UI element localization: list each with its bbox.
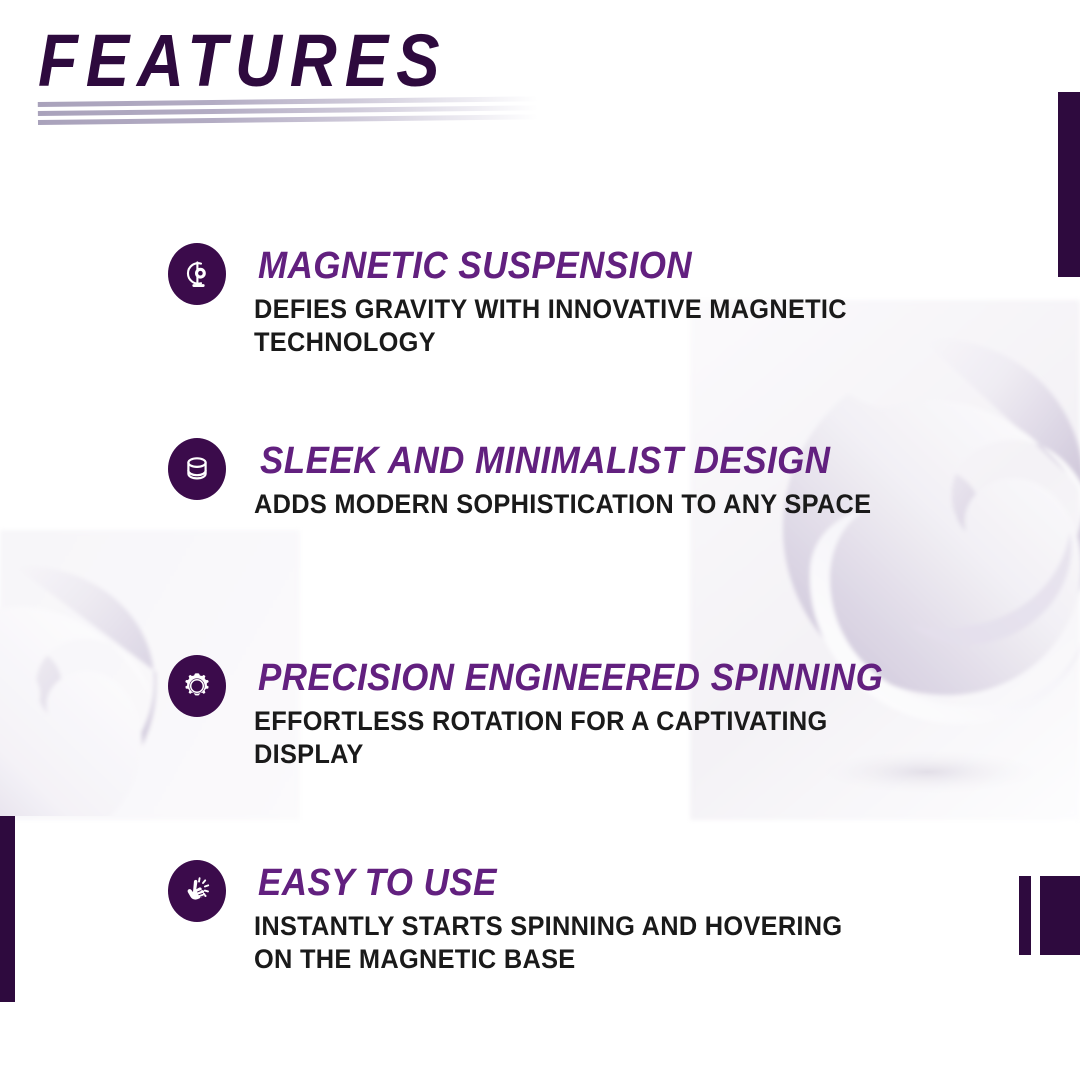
feature-text-block: MAGNETIC SUSPENSION DEFIES GRAVITY WITH … bbox=[258, 243, 928, 359]
feature-heading: SLEEK AND MINIMALIST DESIGN bbox=[260, 440, 859, 482]
feature-item-minimalist-design: SLEEK AND MINIMALIST DESIGN ADDS MODERN … bbox=[168, 438, 911, 521]
feature-heading: MAGNETIC SUSPENSION bbox=[258, 245, 874, 287]
feature-item-magnetic-suspension: MAGNETIC SUSPENSION DEFIES GRAVITY WITH … bbox=[168, 243, 928, 359]
feature-description: DEFIES GRAVITY WITH INNOVATIVE MAGNETIC … bbox=[254, 293, 888, 359]
header: FEATURES bbox=[38, 22, 598, 100]
bar-bottom-right-thin bbox=[1019, 876, 1031, 955]
feature-text-block: EASY TO USE INSTANTLY STARTS SPINNING AN… bbox=[258, 860, 880, 976]
levitating-globe-icon bbox=[168, 243, 226, 305]
bar-left-bottom bbox=[0, 816, 15, 1002]
gear-icon bbox=[168, 655, 226, 717]
feature-item-precision-spinning: PRECISION ENGINEERED SPINNING EFFORTLESS… bbox=[168, 655, 938, 771]
cylinder-puck-icon bbox=[168, 438, 226, 500]
feature-text-block: SLEEK AND MINIMALIST DESIGN ADDS MODERN … bbox=[260, 438, 911, 521]
feature-description: EFFORTLESS ROTATION FOR A CAPTIVATING DI… bbox=[254, 705, 897, 771]
feature-item-easy-to-use: EASY TO USE INSTANTLY STARTS SPINNING AN… bbox=[168, 860, 880, 976]
feature-heading: PRECISION ENGINEERED SPINNING bbox=[258, 657, 883, 699]
feature-heading: EASY TO USE bbox=[258, 862, 830, 904]
page-title: FEATURES bbox=[38, 22, 531, 100]
features-poster: FEATURES MAGNETIC SUSPENS bbox=[0, 0, 1080, 1080]
tap-hand-icon bbox=[168, 860, 226, 922]
title-rule-3 bbox=[38, 114, 538, 125]
bar-right-top bbox=[1058, 92, 1080, 277]
title-underline-rules bbox=[38, 96, 558, 144]
feature-description: ADDS MODERN SOPHISTICATION TO ANY SPACE bbox=[254, 488, 871, 521]
twisted-torus-left bbox=[0, 556, 172, 816]
bar-bottom-right-block bbox=[1040, 876, 1080, 955]
feature-description: INSTANTLY STARTS SPINNING AND HOVERING O… bbox=[254, 910, 842, 976]
feature-text-block: PRECISION ENGINEERED SPINNING EFFORTLESS… bbox=[258, 655, 938, 771]
